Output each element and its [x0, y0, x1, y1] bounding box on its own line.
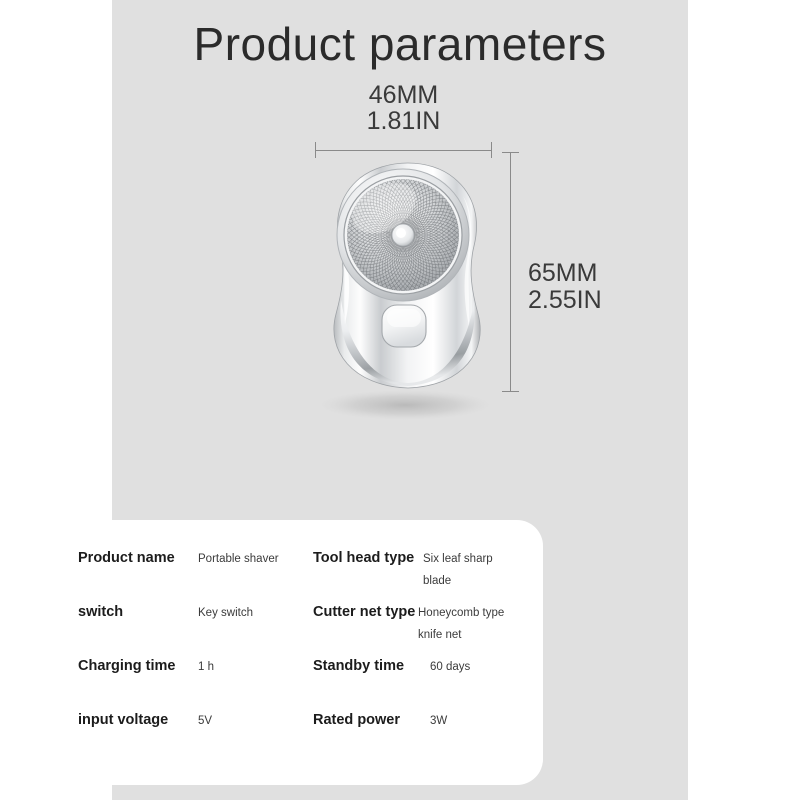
spec-value: 3W: [430, 710, 447, 732]
spec-value: 1 h: [198, 656, 214, 678]
spec-cell: Product name Portable shaver: [78, 548, 313, 570]
table-row: Charging time 1 h Standby time 60 days: [78, 656, 518, 710]
product-image-shaver: [302, 150, 512, 450]
height-dimension-annotation: 65MM 2.55IN: [502, 152, 632, 392]
spec-cell: switch Key switch: [78, 602, 313, 624]
height-dimension-text: 65MM 2.55IN: [528, 260, 602, 314]
spec-value: Honeycomb type knife net: [418, 602, 518, 646]
spec-key: Charging time: [78, 656, 198, 676]
shaver-head-hub-core: [396, 228, 406, 238]
spec-key: Standby time: [313, 656, 430, 676]
width-dimension-annotation: 46MM 1.81IN: [315, 82, 492, 158]
spec-cell: Rated power 3W: [313, 710, 518, 732]
spec-cell: input voltage 5V: [78, 710, 313, 732]
spec-key: Cutter net type: [313, 602, 418, 622]
power-button-inner-highlight: [387, 309, 421, 327]
spec-value: Portable shaver: [198, 548, 279, 570]
spec-cell: Cutter net type Honeycomb type knife net: [313, 602, 518, 646]
spec-cell: Charging time 1 h: [78, 656, 313, 678]
specifications-table: Product name Portable shaver Tool head t…: [78, 548, 518, 764]
spec-key: Product name: [78, 548, 198, 568]
spec-key: switch: [78, 602, 198, 622]
product-shadow: [319, 390, 491, 420]
width-dimension-inch: 1.81IN: [315, 108, 492, 134]
width-dimension-mm: 46MM: [315, 82, 492, 108]
spec-value: 5V: [198, 710, 212, 732]
table-row: input voltage 5V Rated power 3W: [78, 710, 518, 764]
page-title: Product parameters: [112, 16, 688, 72]
spec-value: Key switch: [198, 602, 253, 624]
table-row: switch Key switch Cutter net type Honeyc…: [78, 602, 518, 656]
spec-cell: Tool head type Six leaf sharp blade: [313, 548, 518, 592]
spec-key: input voltage: [78, 710, 198, 730]
spec-value: 60 days: [430, 656, 470, 678]
spec-value: Six leaf sharp blade: [423, 548, 518, 592]
specifications-card: Product name Portable shaver Tool head t…: [40, 520, 543, 785]
height-dimension-mm: 65MM: [528, 260, 602, 287]
spec-key: Tool head type: [313, 548, 423, 568]
spec-key: Rated power: [313, 710, 430, 730]
spec-cell: Standby time 60 days: [313, 656, 518, 678]
height-dimension-inch: 2.55IN: [528, 287, 602, 314]
table-row: Product name Portable shaver Tool head t…: [78, 548, 518, 602]
